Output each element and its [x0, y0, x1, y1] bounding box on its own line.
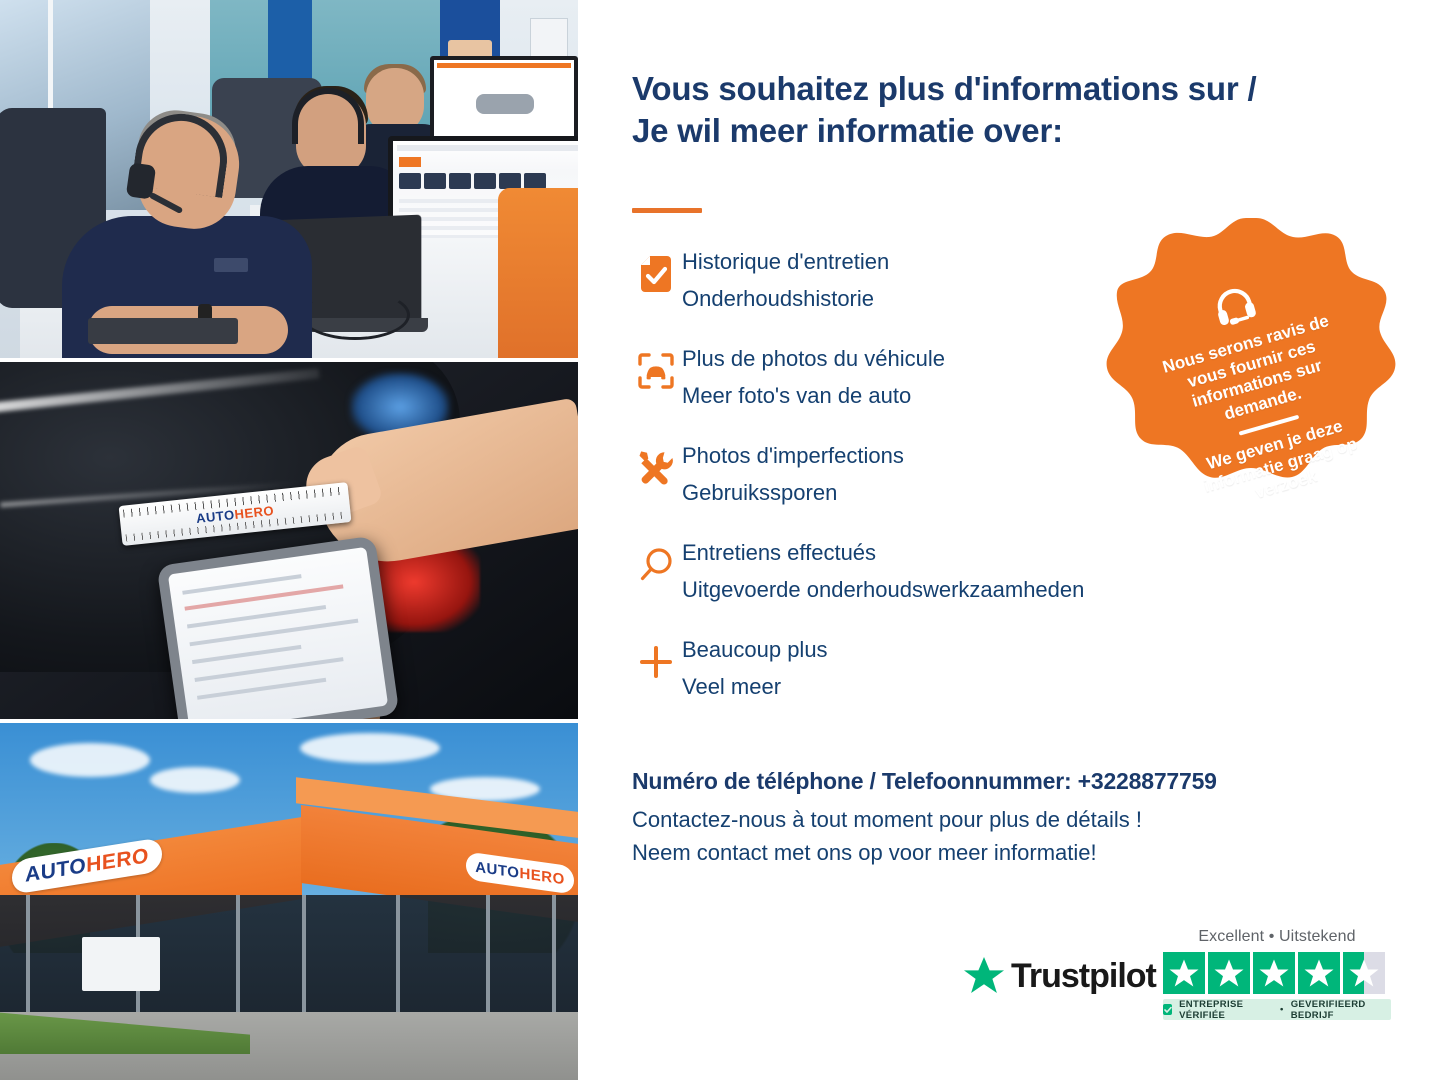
trustpilot-widget[interactable]: Trustpilot Excellent • Uitstekend	[963, 928, 1388, 1028]
rating-label: Excellent • Uitstekend	[1163, 928, 1391, 946]
list-item-text: Photos d'imperfections Gebruikssporen	[682, 437, 904, 512]
feature-label-nl: Meer foto's van de auto	[682, 378, 945, 415]
feature-label-fr: Beaucoup plus	[682, 632, 828, 669]
accent-divider	[632, 208, 702, 213]
star-3	[1253, 952, 1295, 994]
photo-column: AUTOHERO	[0, 0, 578, 1080]
feature-label-nl: Uitgevoerde onderhoudswerkzaamheden	[682, 572, 1084, 609]
feature-label-nl: Onderhoudshistorie	[682, 281, 889, 318]
plus-icon	[630, 631, 682, 689]
list-item-text: Beaucoup plus Veel meer	[682, 631, 828, 706]
star-1	[1163, 952, 1205, 994]
magnifier-icon	[630, 534, 682, 592]
showroom-logo-hero-right: HERO	[519, 864, 564, 887]
contact-block: Numéro de téléphone / Telefoonnummer: +3…	[632, 768, 1412, 870]
list-item-text: Plus de photos du véhicule Meer foto's v…	[682, 340, 945, 415]
promo-page: AUTOHERO	[0, 0, 1440, 1080]
feature-label-nl: Veel meer	[682, 669, 828, 706]
contact-text-nl: Neem contact met ons op voor meer inform…	[632, 836, 1412, 869]
trustpilot-brand: Trustpilot	[1011, 957, 1156, 996]
page-title-fr: Vous souhaitez plus d'informations sur /	[632, 68, 1402, 110]
showroom-logo-hero-left: HERO	[86, 844, 149, 877]
tools-icon	[630, 437, 682, 495]
showroom-logo-auto-left: AUTO	[25, 854, 86, 887]
phone-number[interactable]: Numéro de téléphone / Telefoonnummer: +3…	[632, 768, 1412, 795]
feature-label-fr: Photos d'imperfections	[682, 438, 904, 475]
vehicle-inspection-photo: AUTOHERO	[0, 362, 578, 719]
star-rating	[1163, 952, 1391, 994]
contact-text-fr: Contactez-nous à tout moment pour plus d…	[632, 803, 1412, 836]
document-check-icon	[630, 243, 682, 301]
star-5-half	[1343, 952, 1385, 994]
list-item: Beaucoup plus Veel meer	[630, 631, 1250, 706]
list-item-text: Historique d'entretien Onderhoudshistori…	[682, 243, 889, 318]
page-title-nl: Je wil meer informatie over:	[632, 110, 1402, 152]
check-icon	[1163, 1004, 1172, 1015]
call-center-agents-photo	[0, 0, 578, 358]
feature-label-fr: Entretiens effectués	[682, 535, 1084, 572]
trustpilot-star-icon	[963, 956, 1005, 996]
trustpilot-rating: Excellent • Uitstekend	[1163, 928, 1391, 1020]
star-4	[1298, 952, 1340, 994]
list-item-text: Entretiens effectués Uitgevoerde onderho…	[682, 534, 1084, 609]
feature-label-fr: Plus de photos du véhicule	[682, 341, 945, 378]
info-on-request-badge: Nous serons ravis de vous fournir ces in…	[1106, 212, 1406, 548]
showroom-logo-auto-right: AUTO	[475, 858, 519, 881]
feature-label-fr: Historique d'entretien	[682, 244, 889, 281]
headset-icon	[1209, 282, 1261, 335]
autohero-showroom-photo: AUTOHERO AUTOHERO	[0, 723, 578, 1080]
verified-label-fr: ENTREPRISE VÉRIFIÉE	[1179, 999, 1273, 1021]
star-2	[1208, 952, 1250, 994]
feature-label-nl: Gebruikssporen	[682, 475, 904, 512]
car-scan-icon	[630, 340, 682, 398]
trustpilot-logo: Trustpilot	[963, 956, 1156, 996]
verified-separator: •	[1280, 1004, 1284, 1015]
page-title: Vous souhaitez plus d'informations sur /…	[632, 68, 1402, 152]
verified-label-nl: GEVERIFIEERD BEDRIJF	[1291, 999, 1391, 1021]
verified-business-badge: ENTREPRISE VÉRIFIÉE • GEVERIFIEERD BEDRI…	[1163, 999, 1391, 1020]
